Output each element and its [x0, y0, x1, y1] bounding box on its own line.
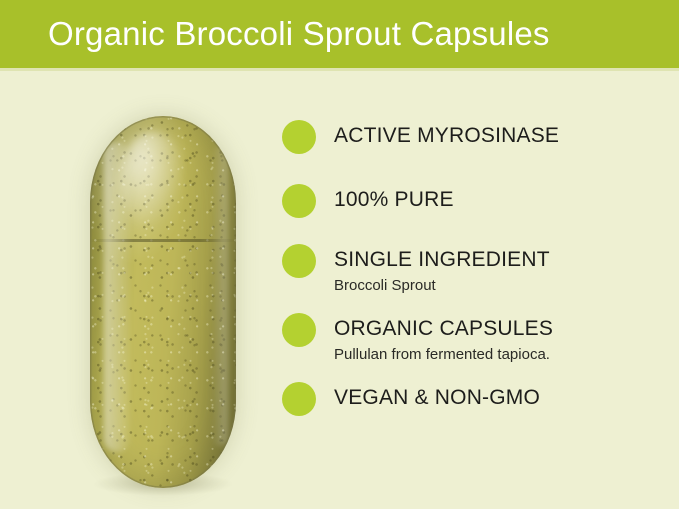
capsule-graphic [90, 116, 236, 488]
bullet-dot-icon [282, 382, 316, 416]
list-item: SINGLE INGREDIENT Broccoli Sprout [282, 244, 662, 297]
page-title: Organic Broccoli Sprout Capsules [0, 15, 550, 53]
list-item: ACTIVE MYROSINASE [282, 120, 662, 154]
list-item: ORGANIC CAPSULES Pullulan from fermented… [282, 313, 662, 366]
feature-title: 100% PURE [334, 186, 454, 214]
feature-title: ORGANIC CAPSULES [334, 315, 553, 343]
feature-subtitle: Pullulan from fermented tapioca. [334, 344, 553, 366]
header-bar: Organic Broccoli Sprout Capsules [0, 0, 679, 68]
capsule-rim [90, 116, 236, 488]
bullet-dot-icon [282, 120, 316, 154]
list-item: 100% PURE [282, 184, 662, 218]
feature-text: VEGAN & NON-GMO [334, 382, 540, 412]
bullet-dot-icon [282, 184, 316, 218]
feature-subtitle: Broccoli Sprout [334, 275, 550, 297]
product-image [52, 96, 272, 496]
feature-title: VEGAN & NON-GMO [334, 384, 540, 412]
feature-text: ACTIVE MYROSINASE [334, 120, 559, 150]
feature-title: ACTIVE MYROSINASE [334, 122, 559, 150]
header-divider [0, 68, 679, 71]
feature-text: ORGANIC CAPSULES Pullulan from fermented… [334, 313, 553, 366]
feature-title: SINGLE INGREDIENT [334, 246, 550, 274]
feature-text: SINGLE INGREDIENT Broccoli Sprout [334, 244, 550, 297]
list-item: VEGAN & NON-GMO [282, 382, 662, 416]
bullet-dot-icon [282, 313, 316, 347]
bullet-dot-icon [282, 244, 316, 278]
product-feature-poster: Organic Broccoli Sprout Capsules ACTIVE … [0, 0, 679, 509]
feature-list: ACTIVE MYROSINASE 100% PURE SINGLE INGRE… [282, 120, 662, 416]
feature-text: 100% PURE [334, 184, 454, 214]
